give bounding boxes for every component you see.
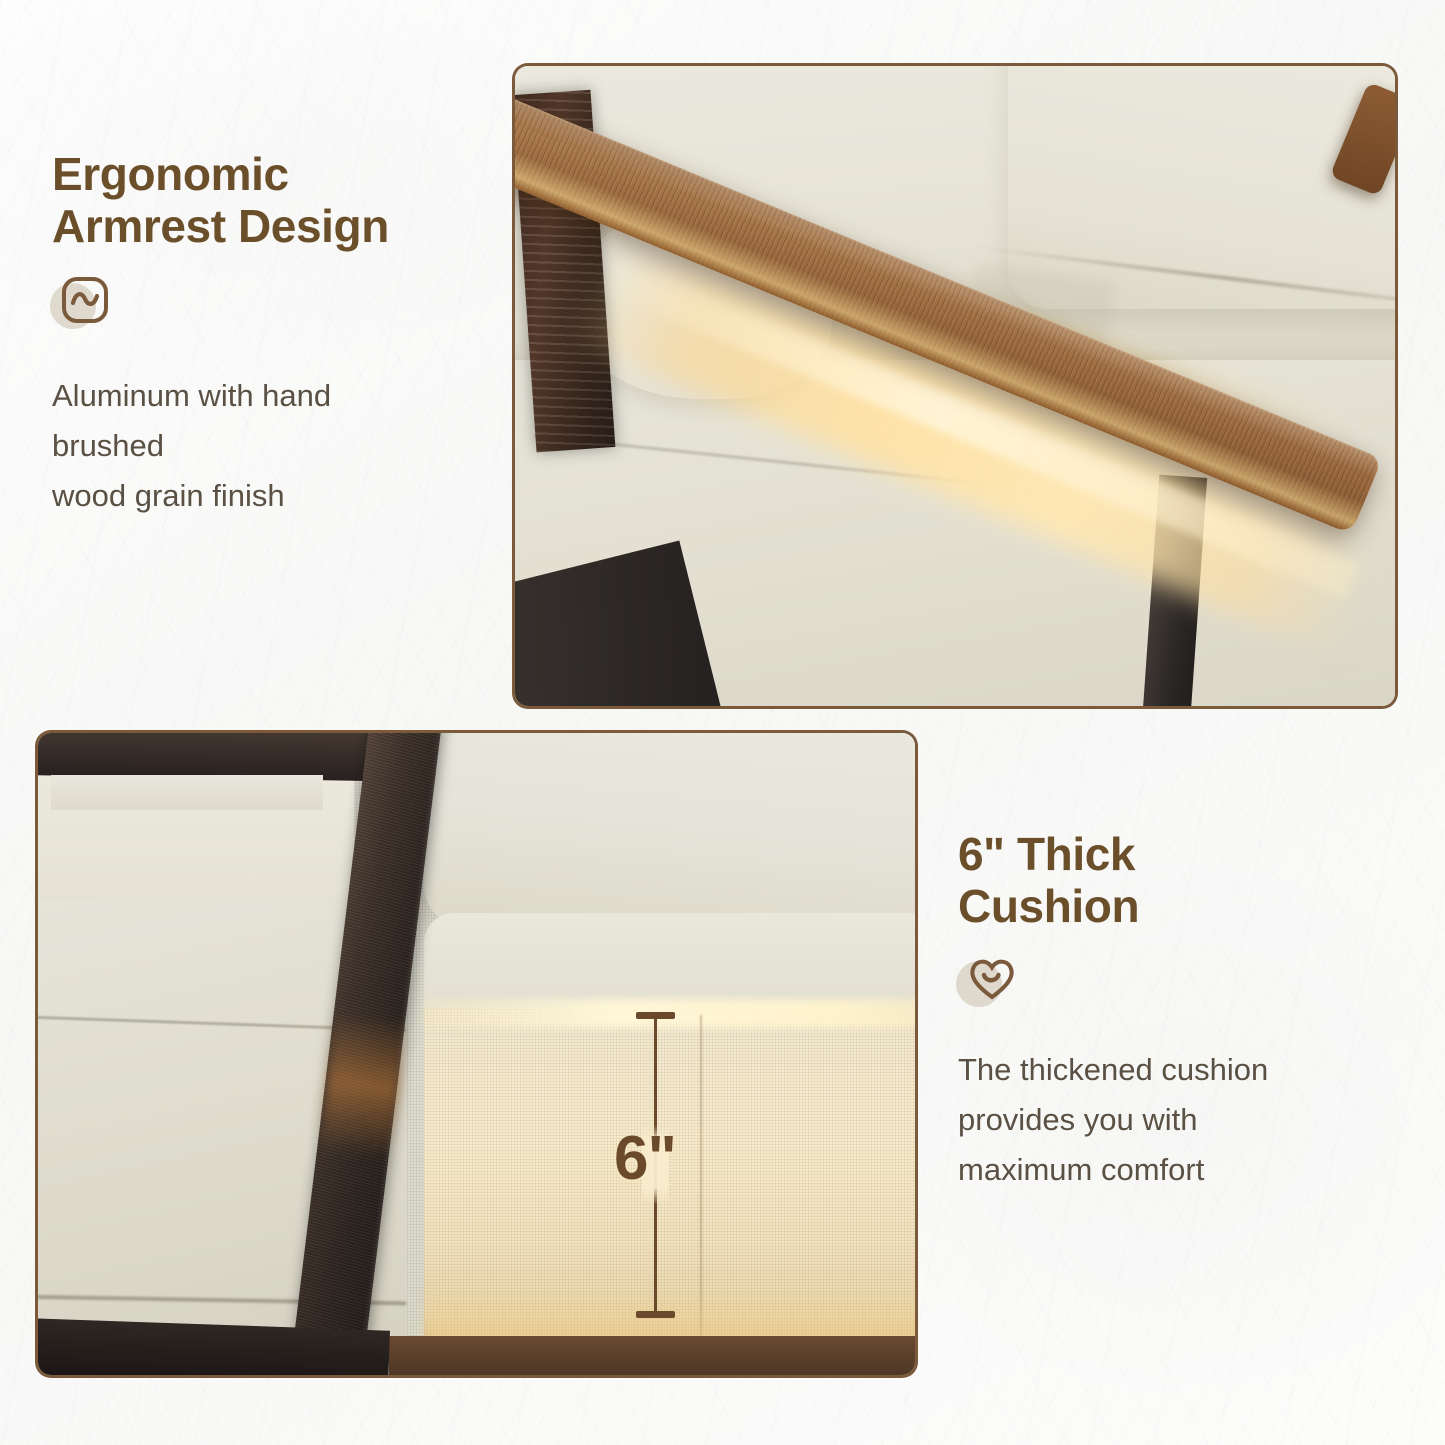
wave-rounded-square-glyph (60, 275, 110, 325)
cushion-heading: 6" Thick Cushion (958, 828, 1378, 933)
back-pillow-right (424, 733, 915, 926)
cushion-scene (38, 733, 915, 1375)
heart-smile-icon (958, 953, 1020, 1015)
armrest-scene (515, 66, 1395, 706)
cushion-text-block: 6" Thick Cushion The thickened cushion p… (958, 828, 1378, 1196)
cushion-photo (38, 733, 915, 1375)
arm-rail-inner-cutout (51, 775, 323, 810)
cushion-body-text: The thickened cushion provides you with … (958, 1045, 1378, 1196)
dimension-label: 6" (614, 1123, 738, 1194)
armrest-body-text: Aluminum with hand brushed wood grain fi… (52, 371, 482, 522)
armrest-photo (515, 66, 1395, 706)
heart-smile-glyph (966, 953, 1018, 1003)
armrest-text-block: Ergonomic Armrest Design Aluminum with h… (52, 148, 482, 522)
wave-rounded-square-icon (52, 275, 114, 337)
armrest-heading: Ergonomic Armrest Design (52, 148, 482, 253)
cushion-thickness-annotation: 6" (612, 1005, 752, 1325)
sofa-base-rail (389, 1336, 915, 1375)
dimension-cap-bottom (636, 1311, 675, 1318)
feature-panel: 6" Ergonomic Armrest Design Aluminum wit… (0, 0, 1445, 1445)
